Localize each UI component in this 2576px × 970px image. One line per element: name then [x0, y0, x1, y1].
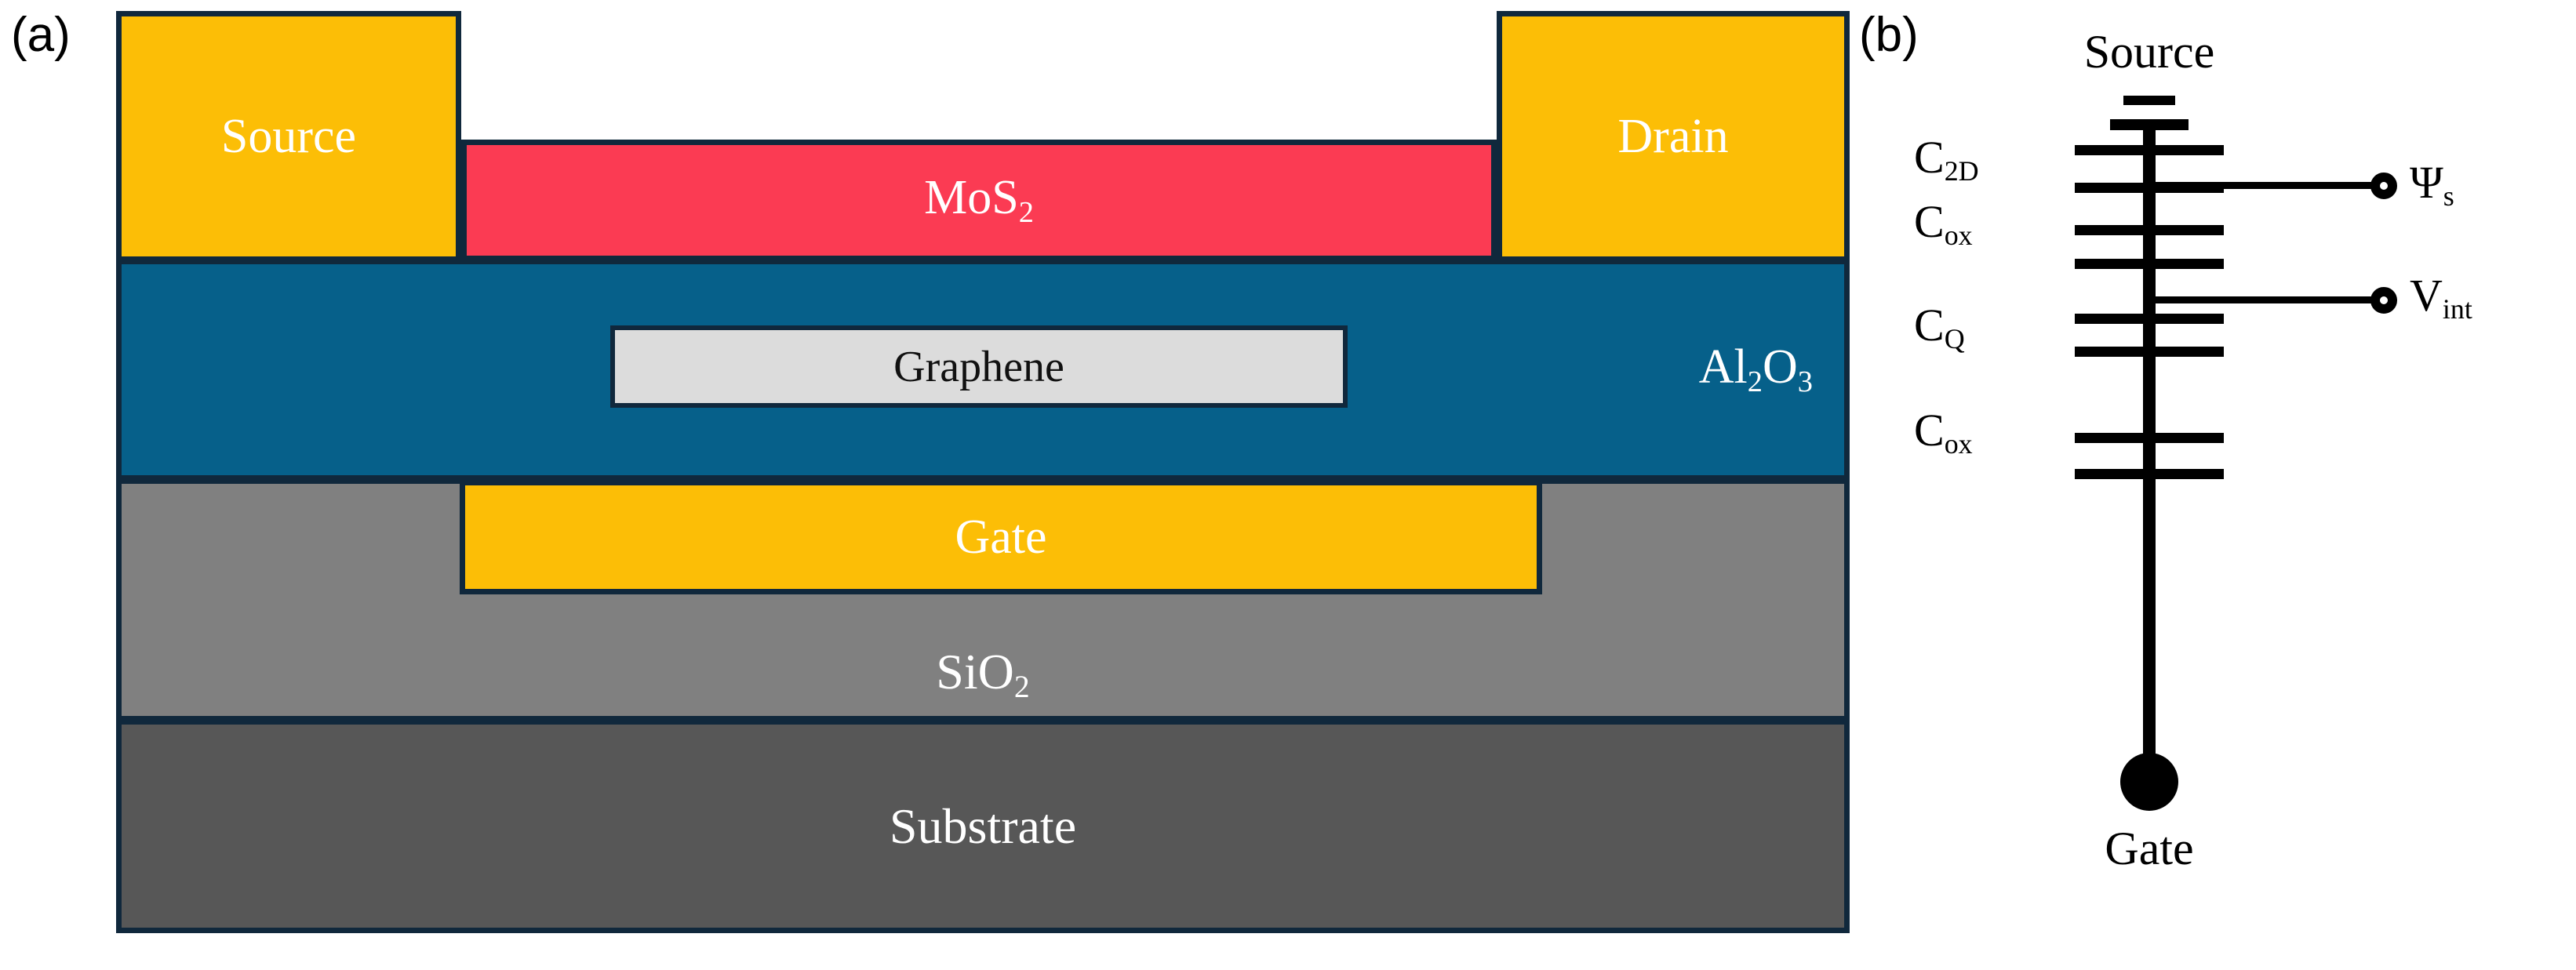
electrode-drain: Drain — [1497, 11, 1850, 262]
capacitor-cox-upper-label: Cox — [1914, 199, 1973, 250]
layer-substrate: Substrate — [116, 719, 1850, 933]
layer-graphene: Graphene — [610, 325, 1348, 408]
circuit-source-label: Source — [1992, 28, 2306, 75]
layer-mos2-label: MoS2 — [924, 173, 1034, 227]
layer-al2o3-label: Al2O3 — [1699, 343, 1813, 397]
source-ground-bar-small — [2123, 96, 2175, 105]
capacitor-cox-lower-bottom-plate — [2075, 469, 2224, 479]
terminal-vint-label: Vint — [2410, 273, 2472, 324]
terminal-psis-label: Ψs — [2410, 160, 2454, 211]
gate-node — [2120, 753, 2178, 811]
capacitor-cq-label: CQ — [1914, 303, 1965, 354]
tap-wire-psis — [2149, 182, 2377, 189]
terminal-node-vint — [2370, 287, 2397, 314]
electrode-source: Source — [116, 11, 461, 262]
capacitor-cox-upper-bottom-plate — [2075, 259, 2224, 269]
capacitor-cox-upper-top-plate — [2075, 225, 2224, 235]
electrode-drain-label: Drain — [1617, 112, 1728, 161]
layer-substrate-label: Substrate — [890, 801, 1076, 852]
panel-b-label: (b) — [1859, 11, 1919, 60]
layer-mos2: MoS2 — [461, 140, 1497, 261]
capacitor-c2d-top-plate — [2075, 145, 2224, 155]
capacitor-cox-lower-top-plate — [2075, 433, 2224, 443]
device-cross-section-panel: (a) Substrate SiO2 Gate Al2O3 Graphene M… — [0, 0, 1851, 970]
electrode-source-label: Source — [221, 112, 356, 161]
capacitor-cq-lower-plate — [2075, 347, 2224, 357]
source-ground-bar-medium — [2110, 119, 2189, 130]
terminal-node-psis — [2370, 173, 2397, 199]
capacitor-cox-lower-label: Cox — [1914, 408, 1973, 459]
tap-wire-vint — [2149, 296, 2377, 303]
capacitor-c2d-label: C2D — [1914, 135, 1979, 186]
layer-gate-label: Gate — [955, 513, 1046, 561]
layer-gate: Gate — [460, 480, 1542, 594]
circuit-gate-label: Gate — [1992, 825, 2306, 872]
layer-sio2-label: SiO2 — [936, 647, 1029, 703]
capacitor-circuit-panel: (b) Source C2D Ψs Cox Vint CQ Cox Gate — [1851, 0, 2576, 970]
layer-graphene-label: Graphene — [893, 345, 1064, 389]
panel-a-label: (a) — [11, 11, 71, 60]
capacitor-cq-upper-plate — [2075, 314, 2224, 324]
